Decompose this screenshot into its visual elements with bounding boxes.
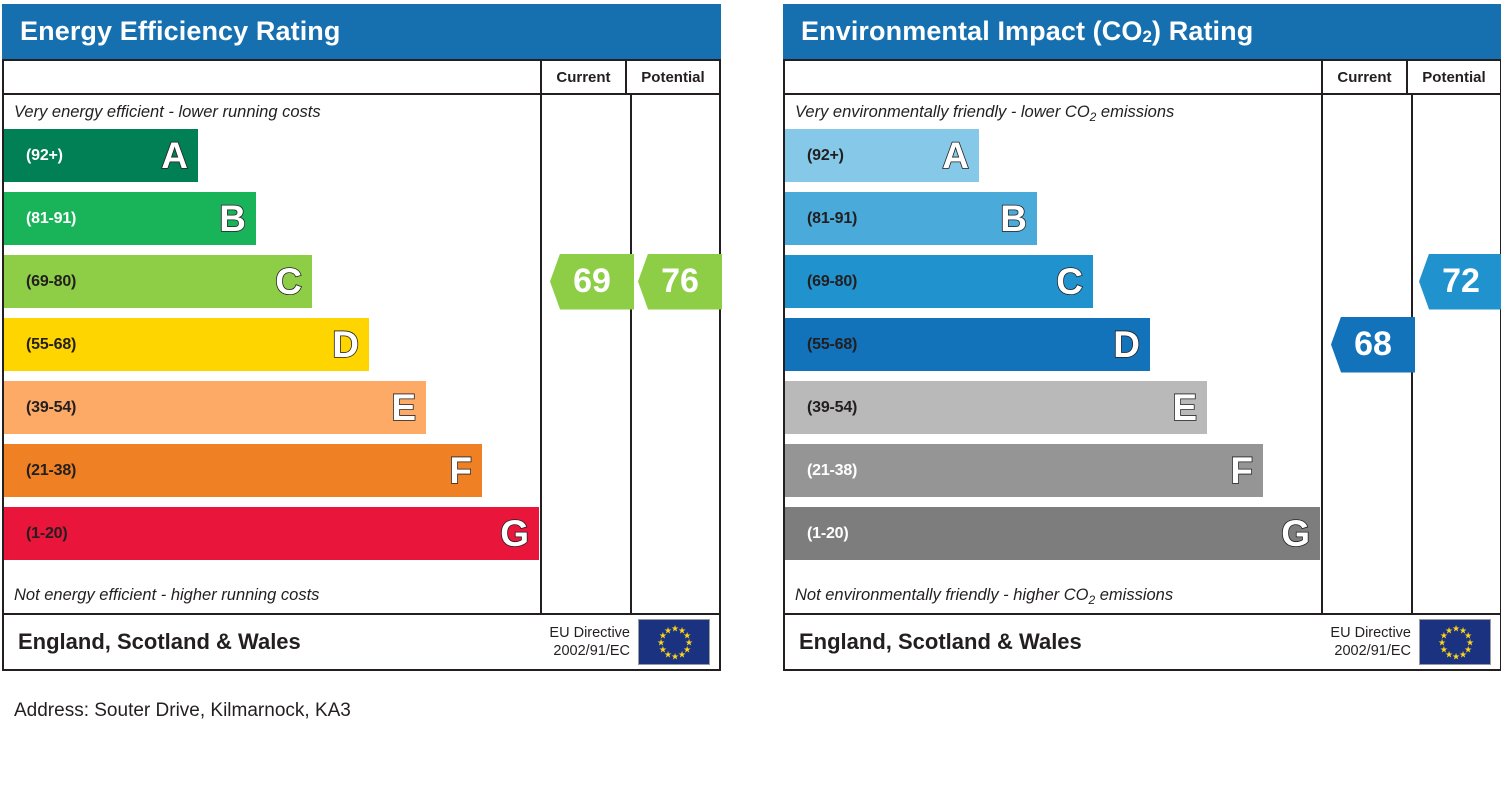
chart-footer: England, Scotland & WalesEU Directive200… — [783, 615, 1501, 671]
band-bar-f: (21-38)F — [785, 444, 1263, 497]
co2-subscript: 2 — [1088, 593, 1095, 607]
chart-footer: England, Scotland & WalesEU Directive200… — [2, 615, 721, 671]
band-range-label: (1-20) — [26, 525, 67, 543]
band-bar-a: (92+)A — [4, 129, 198, 182]
band-letter-label: B — [1000, 200, 1027, 237]
epc-chart-energy-efficiency: Energy Efficiency RatingCurrentPotential… — [2, 4, 721, 677]
potential-rating-badge: 76 — [638, 254, 722, 310]
band-bar-c: (69-80)C — [785, 255, 1093, 308]
column-header-current: Current — [542, 61, 625, 93]
band-range-label: (81-91) — [807, 210, 857, 228]
eu-flag-icon — [1419, 619, 1491, 665]
band-bar-b: (81-91)B — [4, 192, 256, 245]
rating-scale: Very environmentally friendly - lower CO… — [785, 95, 1321, 613]
band-bar-g: (1-20)G — [785, 507, 1320, 560]
band-bar-d: (55-68)D — [4, 318, 369, 371]
column-header-potential: Potential — [625, 61, 719, 93]
epc-certificate-page: Energy Efficiency RatingCurrentPotential… — [0, 0, 1501, 805]
caption-bottom: Not energy efficient - higher running co… — [14, 586, 319, 605]
chart-title: Environmental Impact (CO2) Rating — [783, 4, 1501, 59]
band-letter-label: D — [332, 326, 359, 363]
column-divider — [540, 95, 542, 613]
band-range-label: (21-38) — [26, 462, 76, 480]
band-range-label: (81-91) — [26, 210, 76, 228]
band-bar-e: (39-54)E — [785, 381, 1207, 434]
band-letter-label: G — [1281, 515, 1310, 552]
caption-top: Very energy efficient - lower running co… — [14, 103, 321, 122]
band-range-label: (1-20) — [807, 525, 848, 543]
band-bar-g: (1-20)G — [4, 507, 539, 560]
band-letter-label: A — [161, 137, 188, 174]
band-letter-label: E — [1172, 389, 1197, 426]
chart-body: CurrentPotentialVery environmentally fri… — [783, 59, 1501, 615]
band-letter-label: E — [391, 389, 416, 426]
band-letter-label: F — [449, 452, 472, 489]
directive-line-1: EU Directive — [1330, 624, 1411, 642]
column-header-current: Current — [1323, 61, 1406, 93]
band-range-label: (55-68) — [807, 336, 857, 354]
co2-subscript: 2 — [1090, 110, 1097, 124]
band-letter-label: F — [1230, 452, 1253, 489]
band-range-label: (69-80) — [807, 273, 857, 291]
band-bars: (92+)A(81-91)B(69-80)C(55-68)D(39-54)E(2… — [785, 129, 1321, 570]
band-range-label: (39-54) — [26, 399, 76, 417]
band-range-label: (92+) — [26, 147, 63, 165]
band-bar-b: (81-91)B — [785, 192, 1037, 245]
column-divider — [630, 95, 632, 613]
band-bar-c: (69-80)C — [4, 255, 312, 308]
band-bar-a: (92+)A — [785, 129, 979, 182]
footer-region-label: England, Scotland & Wales — [785, 629, 1330, 655]
band-letter-label: B — [219, 200, 246, 237]
band-range-label: (39-54) — [807, 399, 857, 417]
column-header-row: CurrentPotential — [785, 61, 1500, 95]
band-letter-label: C — [275, 263, 302, 300]
potential-rating-badge: 72 — [1419, 254, 1501, 310]
band-range-label: (92+) — [807, 147, 844, 165]
band-letter-label: G — [500, 515, 529, 552]
chart-body: CurrentPotentialVery energy efficient - … — [2, 59, 721, 615]
directive-line-2: 2002/91/EC — [1330, 642, 1411, 660]
column-divider — [1321, 95, 1323, 613]
band-bars: (92+)A(81-91)B(69-80)C(55-68)D(39-54)E(2… — [4, 129, 540, 570]
current-rating-badge: 69 — [550, 254, 634, 310]
band-range-label: (21-38) — [807, 462, 857, 480]
co2-subscript: 2 — [1142, 27, 1152, 47]
address-line: Address: Souter Drive, Kilmarnock, KA3 — [14, 700, 351, 722]
column-header-spacer — [785, 61, 1323, 93]
footer-directive-label: EU Directive2002/91/EC — [1330, 624, 1419, 660]
directive-line-2: 2002/91/EC — [549, 642, 630, 660]
chart-title: Energy Efficiency Rating — [2, 4, 721, 59]
eu-flag-icon — [638, 619, 710, 665]
column-header-row: CurrentPotential — [4, 61, 719, 95]
band-bar-f: (21-38)F — [4, 444, 482, 497]
band-bar-d: (55-68)D — [785, 318, 1150, 371]
band-letter-label: D — [1113, 326, 1140, 363]
column-header-spacer — [4, 61, 542, 93]
rating-scale: Very energy efficient - lower running co… — [4, 95, 540, 613]
band-bar-e: (39-54)E — [4, 381, 426, 434]
caption-top: Very environmentally friendly - lower CO… — [795, 103, 1174, 122]
current-rating-badge: 68 — [1331, 317, 1415, 373]
directive-line-1: EU Directive — [549, 624, 630, 642]
epc-chart-environmental-impact: Environmental Impact (CO2) RatingCurrent… — [783, 4, 1501, 677]
column-header-potential: Potential — [1406, 61, 1500, 93]
footer-region-label: England, Scotland & Wales — [4, 629, 549, 655]
band-range-label: (55-68) — [26, 336, 76, 354]
band-letter-label: C — [1056, 263, 1083, 300]
band-range-label: (69-80) — [26, 273, 76, 291]
caption-bottom: Not environmentally friendly - higher CO… — [795, 586, 1173, 605]
footer-directive-label: EU Directive2002/91/EC — [549, 624, 638, 660]
band-letter-label: A — [942, 137, 969, 174]
